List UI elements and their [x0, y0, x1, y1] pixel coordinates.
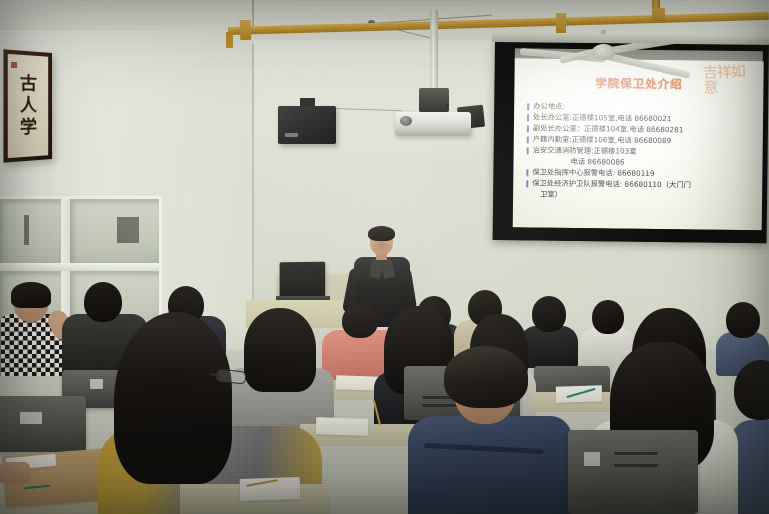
slide-line-text: 办公地点:: [533, 101, 565, 112]
ceiling-fan-hub: [592, 44, 615, 60]
student-head: [734, 360, 769, 420]
slide-bullet-icon: [527, 103, 529, 110]
slide-body: 办公地点: 处长办公室:正德楼105室,电话 86680021 副处长办公室：正…: [526, 101, 757, 203]
pipe-flange: [652, 8, 665, 23]
projector-bracket: [419, 88, 449, 112]
slide-bullet-icon: [527, 125, 529, 132]
notebook-paper: [316, 417, 369, 436]
student-hair: [11, 282, 51, 308]
slide-bullet-icon: [527, 147, 529, 154]
student-navy-jacket: [416, 350, 576, 514]
shelf-slot: [117, 217, 139, 243]
chair-slot: [614, 464, 658, 467]
ponytail: [132, 318, 194, 378]
slide-line-text: 卫室）: [540, 190, 562, 201]
slide-bullet-icon: [527, 114, 529, 121]
classroom-chair: [568, 430, 698, 514]
wall-speaker: [278, 106, 336, 144]
slide-line-text: 治安交通消防管理:正德楼103室: [533, 145, 637, 157]
slide-line-text: 电话 86680086: [570, 157, 624, 168]
chair-slot: [614, 452, 658, 455]
calligraphy-char: 古: [20, 75, 37, 93]
chair-tag: [584, 452, 600, 466]
projector-mount-pole: [430, 10, 438, 92]
lecturer-hair: [368, 226, 395, 241]
shelf-divider: [0, 263, 159, 271]
shelf-slot: [24, 215, 29, 245]
pipe-flange: [556, 13, 566, 33]
slide-bullet-icon: [526, 180, 528, 187]
slide-title: 学院保卫处介绍: [514, 74, 763, 93]
student-head: [726, 302, 760, 338]
slide-bullet-icon: [526, 169, 528, 176]
wall-corner: [252, 44, 254, 304]
slide-line: 卫室）: [526, 189, 756, 202]
pipe-flange: [240, 20, 252, 40]
projector-lens: [400, 116, 412, 126]
student-hair: [444, 346, 528, 408]
student-head: [532, 296, 566, 332]
shelf-cube: [70, 199, 159, 263]
classroom-photo: 古 人 学 吉祥如意 学院保卫处介绍 办公地点:: [0, 0, 769, 514]
lecturer-face: [372, 239, 391, 253]
shelf-cube: [0, 199, 61, 263]
hand: [0, 462, 30, 484]
slide-line-text: 保卫处指挥中心报警电话: 86680119: [532, 167, 654, 179]
calligraphy-seal: [11, 62, 17, 68]
projection-screen: 吉祥如意 学院保卫处介绍 办公地点: 处长办公室:正德楼105室,电话 8668…: [493, 40, 769, 243]
speaker-badge: [285, 133, 298, 137]
podium-laptop: [280, 262, 326, 299]
calligraphy-mat: 古 人 学: [8, 54, 48, 158]
pipe-stub: [226, 32, 233, 48]
calligraphy-char: 人: [20, 97, 37, 115]
student-body: [408, 416, 572, 514]
classroom-chair: [0, 396, 86, 452]
slide-bullet-icon: [527, 136, 529, 143]
calligraphy-char: 学: [20, 119, 37, 137]
chair-tag: [20, 412, 42, 424]
screen-surface: 吉祥如意 学院保卫处介绍 办公地点: 处长办公室:正德楼105室,电话 8668…: [513, 58, 764, 230]
